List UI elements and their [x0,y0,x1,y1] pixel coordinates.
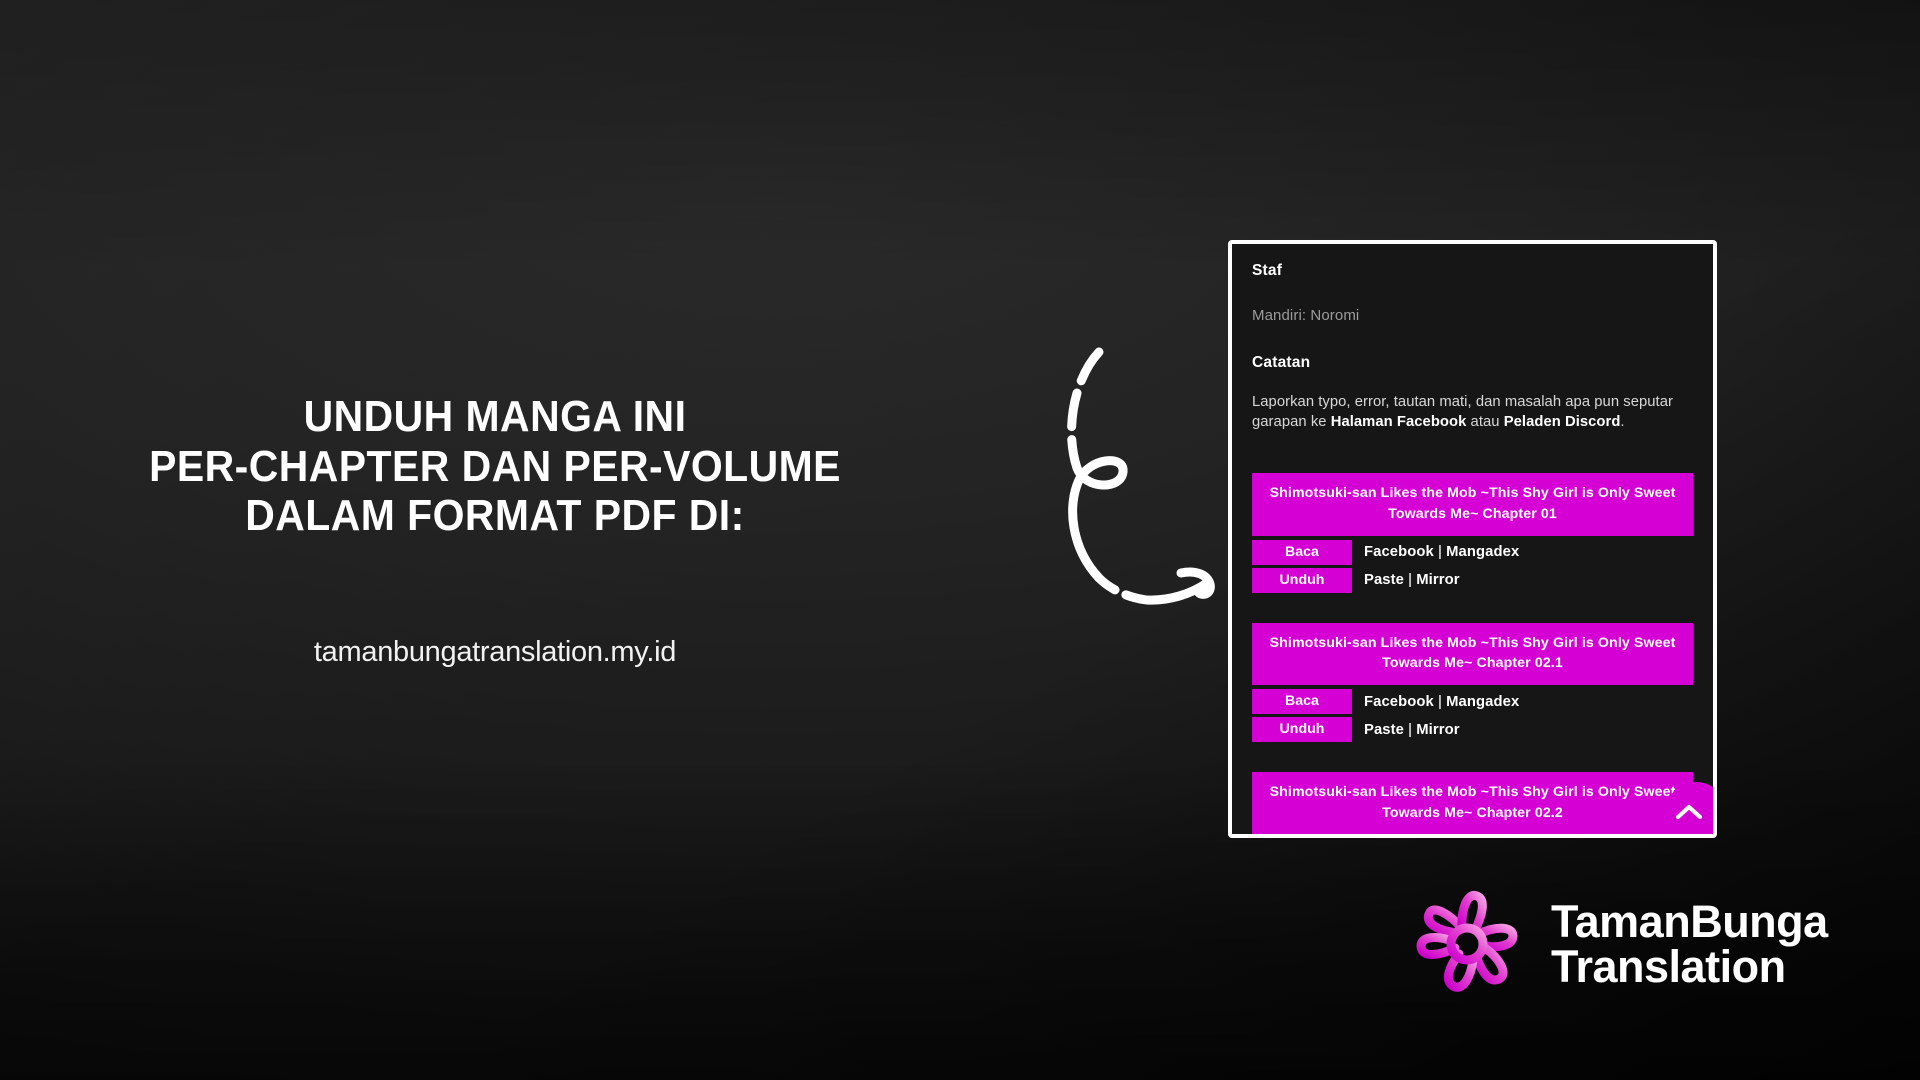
brand-line-1: TamanBunga [1551,900,1828,944]
headline-line-2: PER-CHAPTER DAN PER-VOLUME [35,442,956,492]
staff-credit: Mandiri: Noromi [1252,307,1693,324]
headline-line-3: DALAM FORMAT PDF DI: [35,491,956,541]
download-links: Paste | Mirror [1352,717,1460,742]
facebook-page-link[interactable]: Halaman Facebook [1331,414,1467,430]
read-link-facebook[interactable]: Facebook [1364,694,1434,710]
chapter-title[interactable]: Shimotsuki-san Likes the Mob ~This Shy G… [1252,473,1693,536]
headline-line-1: UNDUH MANGA INI [35,392,956,442]
read-row: Baca Facebook | Mangadex [1252,689,1693,714]
brand-text: TamanBunga Translation [1551,900,1828,988]
note-text-2: atau [1466,414,1503,430]
download-row: Unduh Paste | Mirror [1252,717,1693,742]
brand-line-2: Translation [1551,945,1828,989]
read-tag[interactable]: Baca [1252,689,1352,714]
note-body: Laporkan typo, error, tautan mati, dan m… [1252,392,1693,433]
read-row: Baca Facebook | Mangadex [1252,540,1693,565]
link-separator: | [1404,722,1416,738]
download-link-mirror[interactable]: Mirror [1416,722,1459,738]
scroll-to-top-button[interactable] [1665,782,1717,838]
note-heading: Catatan [1252,354,1693,372]
download-link-paste[interactable]: Paste [1364,572,1404,588]
read-link-facebook[interactable]: Facebook [1364,544,1434,560]
note-text-3: . [1620,414,1624,430]
headline-block: UNDUH MANGA INI PER-CHAPTER DAN PER-VOLU… [0,392,990,541]
chapter-entry: Shimotsuki-san Likes the Mob ~This Shy G… [1252,623,1693,743]
curved-dashed-arrow-icon [1055,340,1255,620]
read-link-mangadex[interactable]: Mangadex [1446,694,1519,710]
chapter-entry: Shimotsuki-san Likes the Mob ~This Shy G… [1252,473,1693,593]
download-links: Paste | Mirror [1352,568,1460,593]
link-separator: | [1434,544,1446,560]
link-separator: | [1434,694,1446,710]
read-link-mangadex[interactable]: Mangadex [1446,544,1519,560]
site-url: tamanbungatranslation.my.id [0,636,990,669]
chapter-title[interactable]: Shimotsuki-san Likes the Mob ~This Shy G… [1252,623,1693,686]
chapter-entry: Shimotsuki-san Likes the Mob ~This Shy G… [1252,772,1693,834]
chapter-title[interactable]: Shimotsuki-san Likes the Mob ~This Shy G… [1252,772,1693,834]
brand-lockup: TamanBunga Translation [1405,878,1828,1011]
download-link-paste[interactable]: Paste [1364,722,1404,738]
download-row: Unduh Paste | Mirror [1252,568,1693,593]
read-links: Facebook | Mangadex [1352,689,1519,714]
download-link-mirror[interactable]: Mirror [1416,572,1459,588]
read-tag[interactable]: Baca [1252,540,1352,565]
panel-scroll-area[interactable]: Staf Mandiri: Noromi Catatan Laporkan ty… [1232,244,1713,834]
chapter-list-panel[interactable]: Staf Mandiri: Noromi Catatan Laporkan ty… [1228,240,1717,838]
chevron-up-icon [1676,804,1702,820]
staff-heading: Staf [1252,262,1693,280]
download-tag[interactable]: Unduh [1252,568,1352,593]
download-tag[interactable]: Unduh [1252,717,1352,742]
read-links: Facebook | Mangadex [1352,540,1519,565]
discord-server-link[interactable]: Peladen Discord [1504,414,1621,430]
link-separator: | [1404,572,1416,588]
flower-icon [1405,878,1533,1011]
